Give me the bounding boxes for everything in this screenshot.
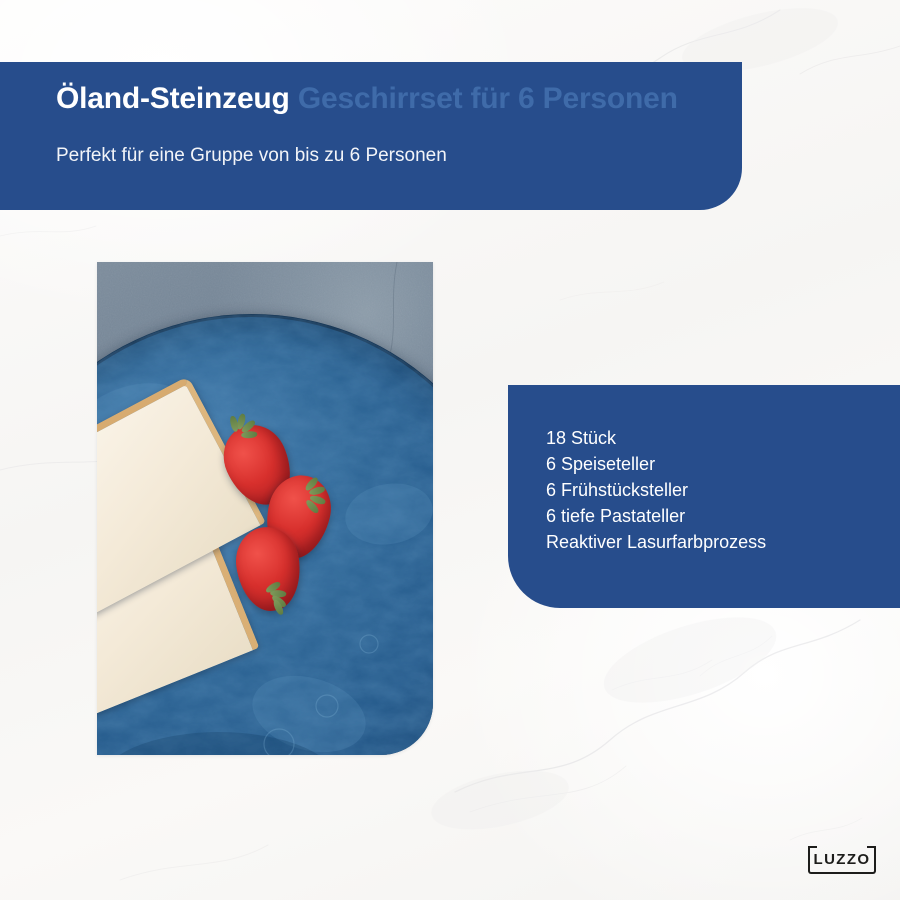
feature-list-box: 18 Stück 6 Speiseteller 6 Frühstückstell… [508, 385, 900, 608]
header-banner: Öland-Steinzeug Geschirrset für 6 Person… [0, 62, 742, 210]
feature-item: Reaktiver Lasurfarbprozess [546, 529, 766, 555]
page-subtitle: Perfekt für eine Gruppe von bis zu 6 Per… [56, 146, 447, 165]
product-banner-canvas: Öland-Steinzeug Geschirrset für 6 Person… [0, 0, 900, 900]
feature-item: 6 Frühstücksteller [546, 477, 766, 503]
product-photo [97, 262, 433, 755]
feature-item: 18 Stück [546, 425, 766, 451]
title-brand: Öland-Steinzeug [56, 82, 290, 115]
brand-logo: LUZZO [808, 848, 876, 874]
page-title: Öland-Steinzeug Geschirrset für 6 Person… [56, 84, 678, 114]
logo-text: LUZZO [808, 851, 876, 868]
title-descriptor: Geschirrset für 6 Personen [298, 82, 678, 115]
feature-item: 6 tiefe Pastateller [546, 503, 766, 529]
feature-item: 6 Speiseteller [546, 451, 766, 477]
feature-list: 18 Stück 6 Speiseteller 6 Frühstückstell… [546, 425, 766, 555]
